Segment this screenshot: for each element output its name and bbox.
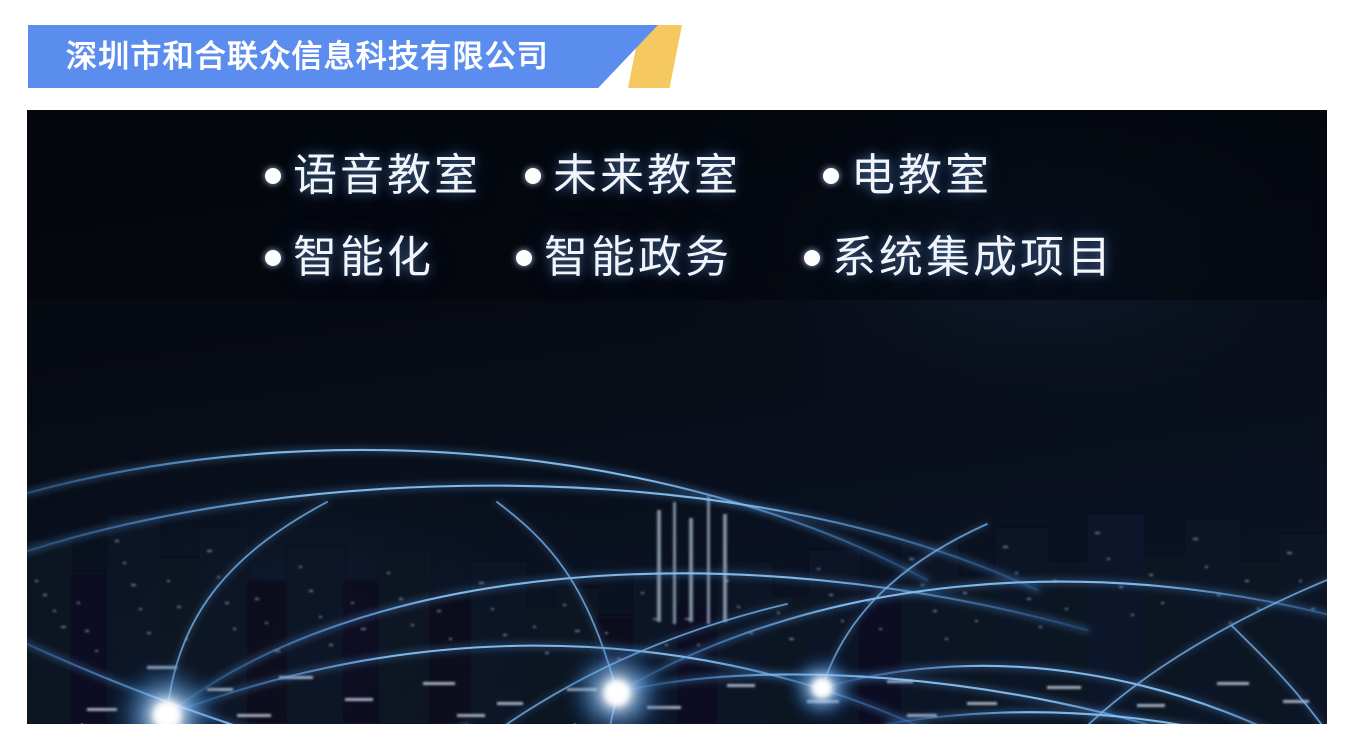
feature-label: 智能政务 <box>544 236 732 280</box>
bullet-dot-icon <box>265 168 281 184</box>
feature-label: 智能化 <box>293 236 434 280</box>
feature-bullet-list: 语音教室 未来教室 电教室 智能化 智能政务 系统集成项目 <box>27 135 1327 299</box>
header-banner: 深圳市和合联众信息科技有限公司 <box>0 0 1348 110</box>
feature-label: 未来教室 <box>553 154 741 198</box>
feature-label: 电教室 <box>851 154 992 198</box>
company-name-title: 深圳市和合联众信息科技有限公司 <box>66 25 549 88</box>
feature-label: 语音教室 <box>293 154 481 198</box>
feature-item-intelligentization: 智能化 <box>265 236 434 280</box>
feature-row-2: 智能化 智能政务 系统集成项目 <box>27 217 1327 299</box>
bullet-dot-icon <box>823 168 839 184</box>
feature-item-av-classroom: 电教室 <box>823 154 992 198</box>
feature-item-future-classroom: 未来教室 <box>525 154 741 198</box>
bullet-dot-icon <box>265 250 281 266</box>
bullet-dot-icon <box>525 168 541 184</box>
feature-label: 系统集成项目 <box>832 236 1114 280</box>
feature-item-smart-government: 智能政务 <box>516 236 732 280</box>
feature-item-voice-classroom: 语音教室 <box>265 154 481 198</box>
bullet-dot-icon <box>516 250 532 266</box>
feature-item-system-integration: 系统集成项目 <box>804 236 1114 280</box>
bullet-dot-icon <box>804 250 820 266</box>
feature-row-1: 语音教室 未来教室 电教室 <box>27 135 1327 217</box>
